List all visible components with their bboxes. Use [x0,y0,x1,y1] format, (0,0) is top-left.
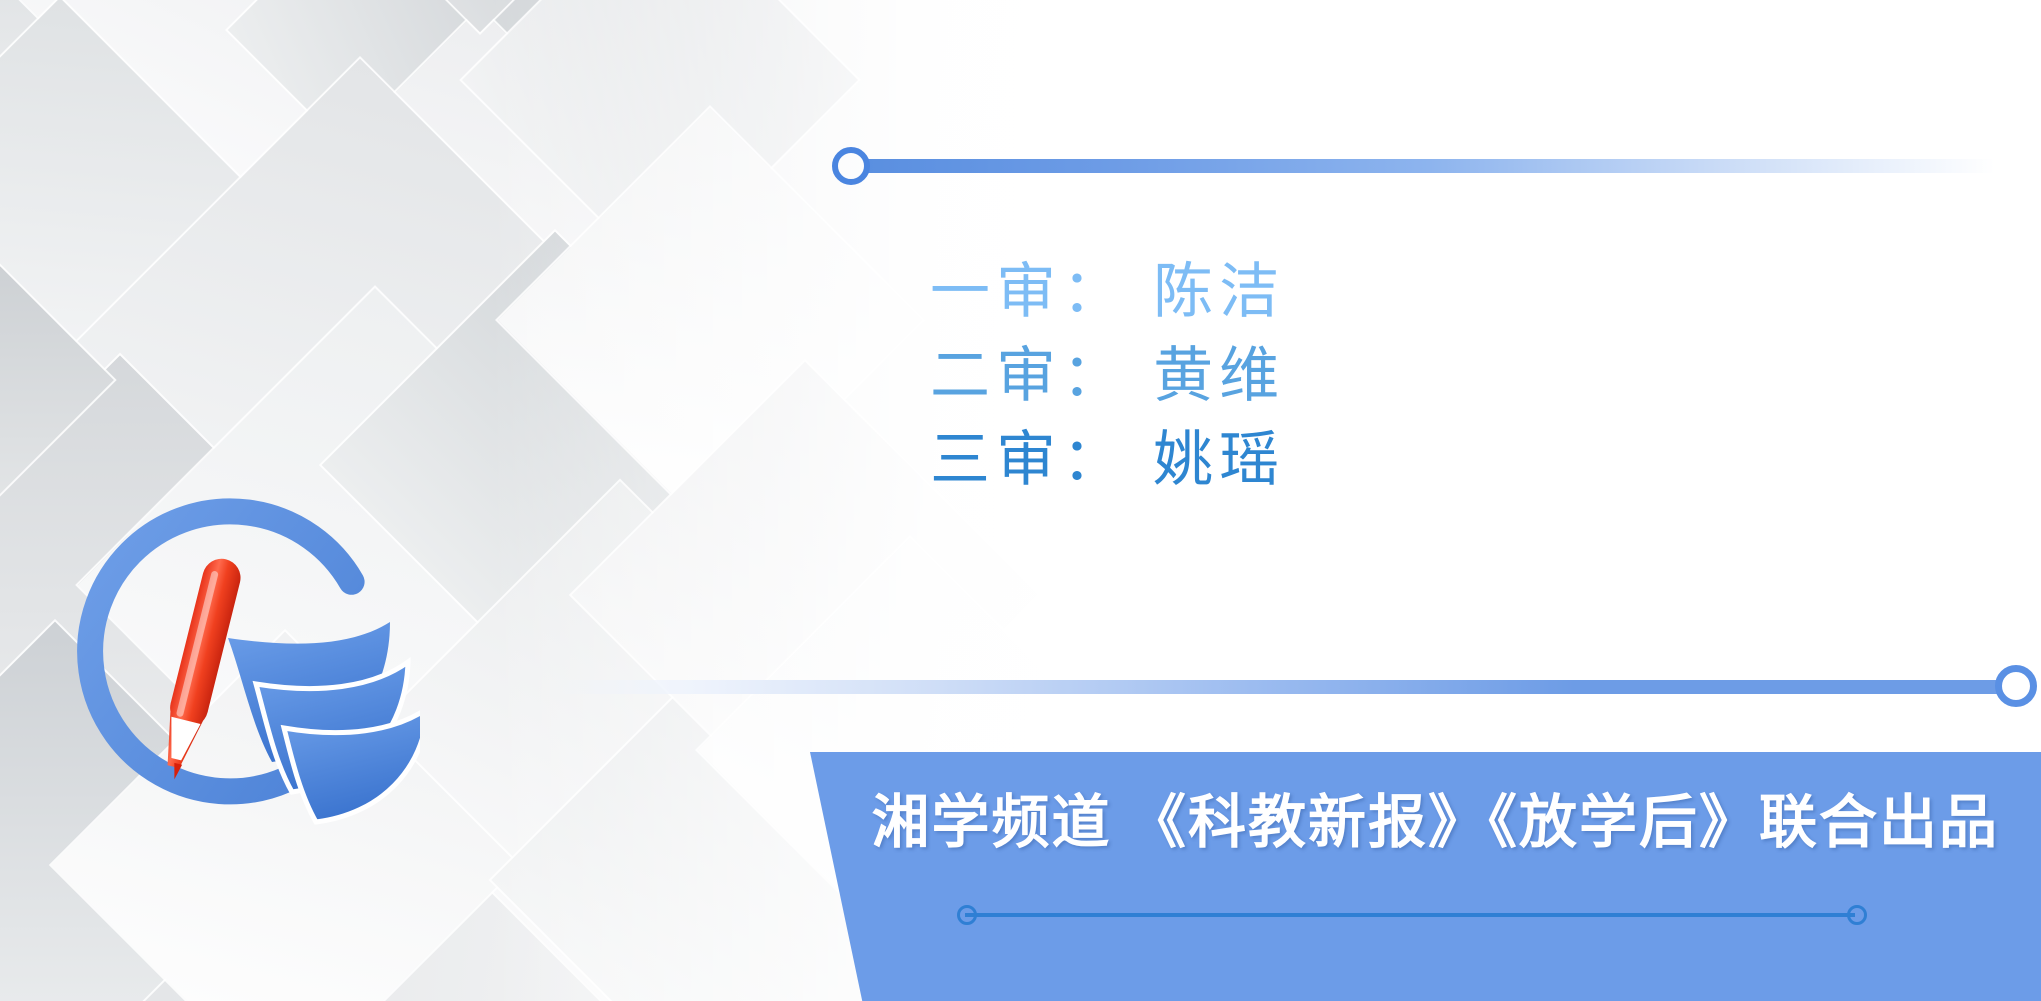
credit-line-first-review: 一审： 陈洁 [930,250,1490,334]
middle-accent-line [555,680,2010,694]
banner-line-right-circle-icon [1847,905,1867,925]
review-credits: 一审： 陈洁 二审： 黄维 三审： 姚瑶 [930,250,1490,502]
top-accent-line [865,159,1995,173]
middle-accent-circle-icon [1995,665,2037,707]
top-accent-circle-icon [832,147,870,185]
banner-production-credit: 湘学频道 《科教新报》《放学后》联合出品 [0,752,2041,882]
end-card-canvas: 一审： 陈洁 二审： 黄维 三审： 姚瑶 湘学频道 《科教新报》《放学后》联合出… [0,0,2041,1001]
logo-pencil-icon [153,555,245,783]
credit-line-second-review: 二审： 黄维 [930,334,1490,418]
credit-line-third-review: 三审： 姚瑶 [930,418,1490,502]
banner-thin-line [965,913,1855,917]
banner-line-left-circle-icon [957,905,977,925]
